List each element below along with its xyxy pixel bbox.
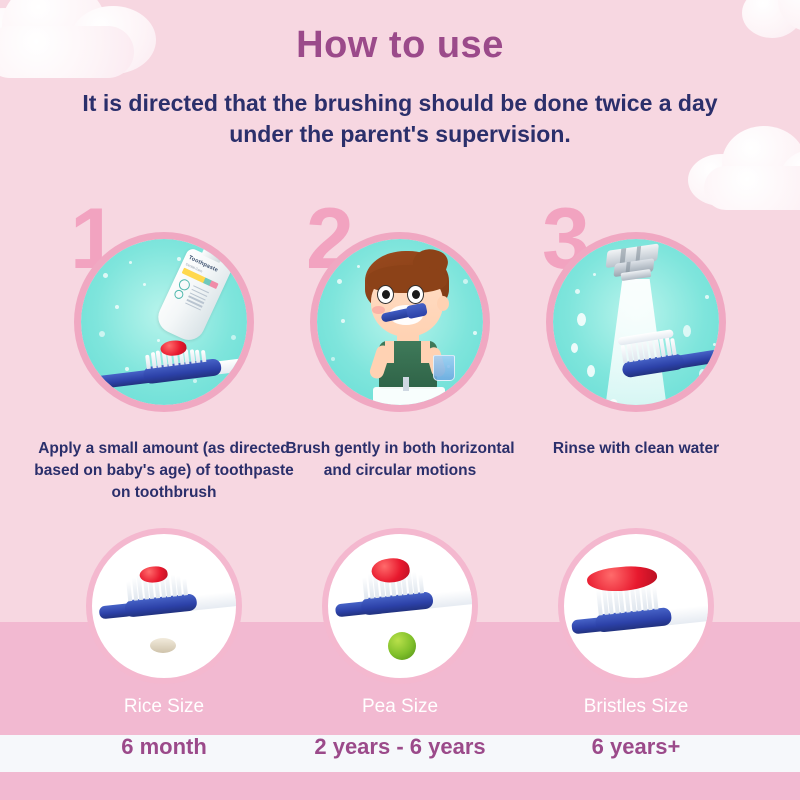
step-caption-3: Rinse with clean water — [506, 438, 766, 460]
toothbrush-icon — [85, 337, 247, 401]
toothbrush-icon — [92, 563, 242, 629]
water-cup-icon — [433, 355, 455, 381]
green-pea-icon — [388, 632, 416, 660]
step-image-2 — [310, 232, 490, 412]
step-caption-2: Brush gently in both horizontal and circ… — [270, 438, 530, 482]
toothbrush-icon — [564, 569, 714, 640]
size-image-bristles — [558, 528, 714, 684]
age-label-rice: 6 month — [34, 734, 294, 760]
step-image-3 — [546, 232, 726, 412]
faucet-icon — [602, 239, 668, 289]
size-label-rice: Rice Size — [34, 696, 294, 718]
page-subtitle: It is directed that the brushing should … — [60, 88, 740, 150]
size-label-pea: Pea Size — [270, 696, 530, 718]
child-brushing-icon — [351, 249, 463, 405]
toothbrush-rinsing-icon — [592, 322, 719, 393]
size-image-rice — [86, 528, 242, 684]
step-caption-1: Apply a small amount (as directed based … — [34, 438, 294, 504]
age-label-pea: 2 years - 6 years — [270, 734, 530, 760]
size-label-bristles: Bristles Size — [506, 696, 766, 718]
toothpaste-tube-icon: Toothpaste Dental Care — [153, 247, 233, 345]
toothbrush-icon — [328, 559, 478, 625]
step-image-1: Toothpaste Dental Care — [74, 232, 254, 412]
page-title: How to use — [0, 24, 800, 67]
background-bottom-band — [0, 772, 800, 800]
age-label-bristles: 6 years+ — [506, 734, 766, 760]
size-image-pea — [322, 528, 478, 684]
rice-grain-icon — [150, 638, 176, 653]
